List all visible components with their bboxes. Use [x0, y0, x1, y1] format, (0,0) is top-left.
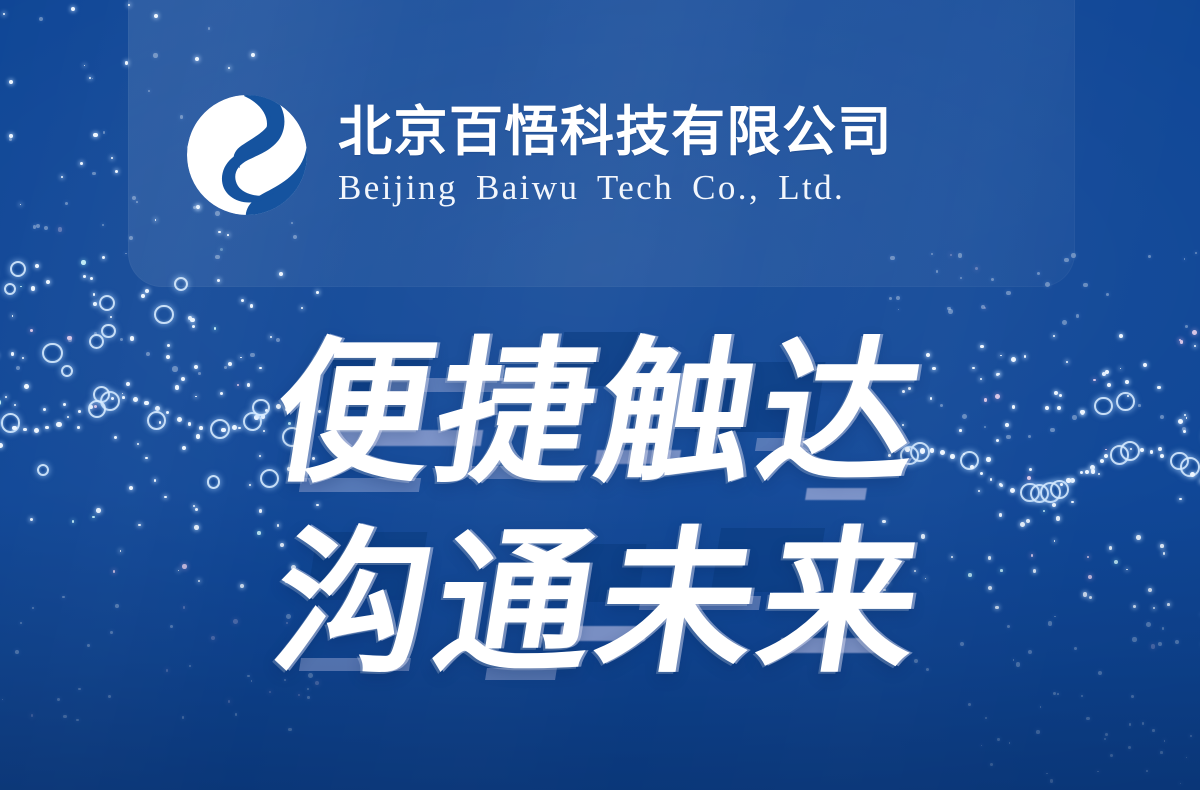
particle-dot [0, 443, 3, 448]
particle-dot [940, 450, 945, 455]
particle-dot [1012, 405, 1016, 409]
particle-dot [1130, 448, 1132, 450]
particle-dot [1071, 501, 1074, 504]
particle-dot [92, 172, 96, 176]
particle-dot [269, 691, 271, 693]
particle-dot [1016, 662, 1021, 667]
particle-dot [1009, 742, 1011, 744]
particle-dot [102, 256, 105, 259]
particle-dot [259, 455, 261, 457]
particle-dot [940, 404, 943, 407]
particle-dot [20, 204, 22, 206]
particle-dot [228, 362, 232, 366]
particle-dot [92, 78, 94, 80]
particle-dot [172, 366, 178, 372]
particle-dot [883, 589, 885, 591]
particle-dot [1093, 379, 1096, 382]
particle-dot [1180, 340, 1184, 344]
particle-dot [286, 614, 291, 619]
headline-line-2: 沟通未来 [0, 508, 1200, 698]
particle-dot [1056, 516, 1061, 521]
particle-dot [126, 382, 130, 386]
particle-dot [968, 573, 972, 577]
glitch-block [639, 596, 761, 610]
particle-dot [980, 472, 983, 475]
particle-dot [1046, 773, 1048, 775]
particle-dot [194, 365, 198, 369]
particle-dot [986, 457, 991, 462]
particle-dot [33, 225, 37, 229]
particle-dot [221, 428, 226, 433]
particle-dot [1089, 596, 1092, 599]
particle-dot [276, 338, 280, 342]
particle-dot [122, 393, 124, 395]
particle-dot [94, 405, 97, 408]
particle-dot [1066, 361, 1068, 363]
particle-dot [9, 134, 13, 138]
particle-dot [93, 293, 96, 296]
particle-dot [243, 412, 262, 431]
particle-dot [995, 606, 999, 610]
particle-dot [1180, 457, 1200, 477]
particle-dot [1000, 355, 1002, 357]
particle-dot [1120, 441, 1140, 461]
particle-dot [1183, 430, 1186, 433]
particle-dot [37, 464, 49, 476]
particle-dot [154, 305, 174, 325]
particle-dot [63, 715, 67, 719]
particle-dot [90, 277, 93, 280]
particle-dot [78, 410, 81, 413]
particle-dot [247, 675, 250, 678]
particle-dot [889, 297, 892, 300]
particle-dot [83, 275, 86, 278]
particle-dot [1048, 621, 1052, 625]
particle-dot [207, 475, 221, 489]
particle-dot [175, 385, 180, 390]
particle-dot [88, 400, 106, 418]
particle-dot [61, 176, 63, 178]
particle-dot [154, 479, 156, 481]
particle-dot [1129, 723, 1132, 726]
particle-dot [1088, 575, 1092, 579]
particle-dot [1110, 445, 1129, 464]
particle-dot [39, 17, 43, 21]
particle-dot [926, 668, 929, 671]
particle-dot [84, 65, 85, 66]
particle-dot [1126, 569, 1128, 571]
particle-dot [1050, 480, 1069, 499]
particle-dot [290, 466, 295, 471]
particle-dot [220, 392, 223, 395]
particle-dot [1054, 391, 1058, 395]
particle-dot [89, 334, 104, 349]
particle-dot [81, 260, 86, 265]
particle-dot [146, 352, 150, 356]
particle-dot [56, 422, 62, 428]
particle-dot [10, 261, 26, 277]
glitch-block [755, 438, 827, 451]
particle-dot [316, 504, 319, 507]
particle-dot [970, 465, 974, 469]
glitch-block [299, 658, 411, 671]
particle-dot [315, 681, 319, 685]
particle-dot [1127, 395, 1129, 397]
particle-dot [198, 580, 200, 582]
baiwu-logo-icon [186, 92, 308, 218]
particle-dot [1185, 325, 1188, 328]
glitch-block [694, 362, 825, 432]
company-name-english: Beijing Baiwu Tech Co., Ltd. [338, 168, 893, 207]
particle-dot [1163, 552, 1165, 554]
particle-dot [1028, 435, 1031, 438]
particle-dot [166, 411, 169, 414]
particle-dot [1000, 484, 1003, 487]
particle-dot [35, 264, 39, 268]
particle-dot [155, 406, 160, 411]
particle-dot [307, 696, 310, 699]
particle-dot [145, 457, 148, 460]
particle-dot [910, 442, 930, 462]
particle-dot [984, 307, 987, 310]
particle-dot [189, 665, 191, 667]
particle-dot [1114, 560, 1118, 564]
particle-dot [1160, 454, 1164, 458]
particle-dot [224, 366, 227, 369]
particle-dot [932, 367, 935, 370]
particle-dot [1072, 415, 1077, 420]
particle-dot [130, 336, 135, 341]
particle-dot [1136, 535, 1141, 540]
particle-dot [316, 291, 319, 294]
particle-dot [1000, 569, 1003, 572]
particle-dot [988, 586, 992, 590]
particle-dot [1148, 255, 1151, 258]
particle-dot [308, 673, 313, 678]
particle-dot [78, 688, 81, 691]
particle-dot [2, 699, 4, 701]
particle-dot [1059, 394, 1062, 397]
particle-dot [115, 170, 118, 173]
particle-dot [183, 606, 186, 609]
particle-dot [947, 307, 951, 311]
particle-dot [280, 543, 285, 548]
particle-dot [1086, 717, 1090, 721]
particle-dot [926, 353, 931, 358]
particle-dot [1060, 483, 1063, 486]
particle-dot [30, 518, 34, 522]
particle-dot [898, 309, 900, 311]
particle-dot [316, 358, 321, 363]
particle-dot [1050, 779, 1053, 782]
particle-dot [1020, 483, 1040, 503]
particle-dot [902, 424, 904, 426]
particle-dot [62, 596, 64, 598]
particle-dot [1119, 334, 1123, 338]
banner-canvas: 北京百悟科技有限公司 Beijing Baiwu Tech Co., Ltd. … [0, 0, 1200, 790]
particle-dot [1005, 423, 1009, 427]
particle-dot [92, 516, 95, 519]
particle-dot [1080, 410, 1084, 414]
particle-dot [1179, 498, 1182, 501]
particle-dot [284, 679, 287, 682]
particle-dot [288, 422, 291, 425]
particle-dot [1045, 406, 1049, 410]
particle-dot [1011, 357, 1016, 362]
headline-block: 便捷触达 沟通未来 [0, 318, 1200, 699]
particle-dot [210, 419, 230, 439]
particle-dot [1040, 482, 1061, 503]
glitch-block [389, 378, 541, 392]
particle-dot [34, 428, 39, 433]
particle-dot [948, 309, 953, 314]
particle-dot [182, 564, 187, 569]
particle-dot [122, 396, 125, 399]
particle-dot [72, 520, 75, 523]
particle-dot [981, 305, 985, 309]
particle-dot [960, 451, 979, 470]
particle-dot [1054, 540, 1056, 542]
particle-dot [43, 408, 46, 411]
particle-dot [286, 622, 288, 624]
particle-dot [170, 625, 173, 628]
particle-dot [984, 426, 986, 428]
headline-line-1: 便捷触达 [0, 318, 1200, 508]
particle-dot [31, 714, 33, 716]
particle-dot [1080, 471, 1083, 474]
particle-dot [1164, 740, 1166, 742]
particle-dot [166, 669, 169, 672]
particle-dot [36, 224, 40, 228]
particle-dot [115, 604, 119, 608]
particle-dot [1142, 722, 1144, 724]
particle-dot [68, 338, 72, 342]
particle-dot [63, 403, 66, 406]
particle-dot [990, 763, 993, 766]
particle-dot [1033, 569, 1037, 573]
particle-dot [193, 505, 195, 507]
particle-dot [301, 639, 305, 643]
particle-dot [960, 642, 965, 647]
particle-dot [261, 414, 266, 419]
particle-dot [1186, 757, 1187, 758]
particle-dot [42, 343, 63, 364]
particle-dot [301, 307, 303, 309]
particle-dot [57, 698, 61, 702]
particle-dot [182, 716, 185, 719]
particle-dot [270, 336, 272, 338]
particle-dot [930, 397, 932, 399]
particle-dot [1128, 746, 1131, 749]
particle-dot [102, 224, 104, 226]
particle-dot [1152, 729, 1155, 732]
particle-dot [120, 338, 123, 341]
particle-dot [263, 430, 265, 432]
particle-dot [190, 318, 195, 323]
particle-dot [1194, 345, 1196, 347]
glitch-block [805, 488, 867, 500]
particle-dot [286, 645, 289, 648]
particle-dot [32, 607, 34, 609]
particle-dot [114, 436, 117, 439]
particle-dot [1097, 771, 1098, 772]
particle-dot [1094, 397, 1113, 416]
particle-dot [137, 443, 139, 445]
particle-dot [908, 387, 911, 390]
particle-dot [12, 426, 17, 431]
particle-dot [125, 253, 127, 255]
particle-dot [997, 373, 1000, 376]
particle-dot [309, 396, 314, 401]
particle-dot [984, 398, 987, 401]
particle-dot [999, 483, 1002, 486]
particle-dot [1110, 754, 1113, 757]
particle-dot [188, 422, 191, 425]
particle-dot [1030, 484, 1049, 503]
particle-dot [1160, 544, 1164, 548]
particle-dot [254, 415, 259, 420]
particle-dot [1180, 783, 1181, 784]
particle-dot [93, 302, 97, 306]
particle-dot [1031, 554, 1034, 557]
particle-dot [1104, 454, 1108, 458]
particle-dot [145, 289, 149, 293]
particle-dot [110, 631, 113, 634]
particle-dot [188, 316, 192, 320]
particle-dot [309, 405, 313, 409]
particle-dot [1160, 751, 1163, 754]
bottom-gradient-fade [0, 490, 1200, 790]
particle-dot [110, 316, 112, 318]
particle-dot [166, 355, 170, 359]
particle-dot [12, 315, 14, 317]
particle-dot [9, 138, 12, 141]
particle-dot [981, 745, 983, 747]
particle-dot [1090, 465, 1095, 470]
particle-dot [233, 619, 238, 624]
particle-dot [996, 373, 999, 376]
particle-dot [182, 446, 186, 450]
particle-dot [1150, 450, 1153, 453]
glitch-block [556, 332, 639, 386]
glitch-block [595, 450, 681, 464]
particle-dot [46, 280, 50, 284]
particle-dot [1178, 419, 1183, 424]
brand-lockup: 北京百悟科技有限公司 Beijing Baiwu Tech Co., Ltd. [186, 92, 893, 218]
particle-dot [1010, 488, 1015, 493]
particle-dot [1158, 447, 1162, 451]
particle-dot [167, 344, 170, 347]
particle-dot [1052, 503, 1056, 507]
particle-dot [120, 550, 122, 552]
particle-dot [259, 509, 262, 512]
particle-dot [997, 738, 999, 740]
particle-dot [318, 410, 322, 414]
particle-dot [76, 719, 79, 722]
particle-dot [1105, 449, 1107, 451]
particle-dot [1190, 472, 1195, 477]
particle-dot [247, 383, 251, 387]
particle-dot [925, 578, 927, 580]
particle-dot [1131, 695, 1134, 698]
particle-dot [100, 391, 120, 411]
particle-dot [1053, 692, 1056, 695]
particle-dot [959, 429, 962, 432]
particle-dot [103, 131, 106, 134]
particle-dot [1070, 478, 1075, 483]
particle-dot [285, 408, 289, 412]
particle-dot [288, 728, 291, 731]
particle-dot [291, 565, 296, 570]
particle-dot [1098, 671, 1102, 675]
particle-dot [67, 336, 71, 340]
particle-dot [1013, 659, 1015, 661]
particle-dot [995, 394, 1000, 399]
particle-dot [3, 13, 5, 15]
particle-dot [177, 417, 182, 422]
particle-dot [1104, 738, 1106, 740]
particle-dot [1160, 415, 1164, 419]
particle-dot [1125, 380, 1129, 384]
particle-dot [24, 384, 29, 389]
particle-dot [1007, 625, 1010, 628]
particle-dot [23, 428, 27, 432]
particle-dot [1100, 459, 1104, 463]
particle-dot [147, 411, 166, 430]
particle-dot [192, 325, 195, 328]
particle-dot [1043, 510, 1045, 512]
particle-dot [93, 133, 97, 137]
glitch-block [551, 544, 646, 602]
particle-dot [240, 584, 244, 588]
particle-dot [1132, 637, 1136, 641]
particle-dot [5, 396, 7, 398]
particle-dot [214, 327, 216, 329]
particle-dot [89, 77, 91, 79]
particle-dot [307, 688, 309, 690]
particle-dot [235, 713, 238, 716]
particle-dot [1029, 468, 1032, 471]
particle-dot [999, 513, 1003, 517]
particle-dot [87, 644, 90, 647]
glitch-block [307, 532, 428, 600]
particle-dot [195, 508, 198, 511]
particle-dot [265, 409, 268, 412]
particle-dot [996, 439, 999, 442]
particle-dot [138, 524, 141, 527]
particle-dot [16, 366, 20, 370]
glitch-block [711, 528, 825, 592]
particle-dot [249, 484, 251, 486]
particle-dot [65, 202, 68, 205]
particle-dot [211, 636, 215, 640]
particle-dot [882, 520, 886, 524]
particle-dot [285, 581, 288, 584]
particle-dot [228, 700, 231, 703]
particle-dot [141, 294, 145, 298]
company-name-chinese: 北京百悟科技有限公司 [338, 103, 893, 160]
particle-dot [250, 353, 255, 358]
particle-dot [298, 694, 300, 696]
particle-dot [1179, 339, 1181, 341]
particle-dot [1091, 469, 1096, 474]
particle-dot [144, 401, 149, 406]
particle-dot [1062, 320, 1067, 325]
particle-dot [1057, 693, 1059, 695]
particle-dot [1083, 283, 1088, 288]
particle-dot [1106, 293, 1109, 296]
particle-dot [1195, 252, 1197, 254]
